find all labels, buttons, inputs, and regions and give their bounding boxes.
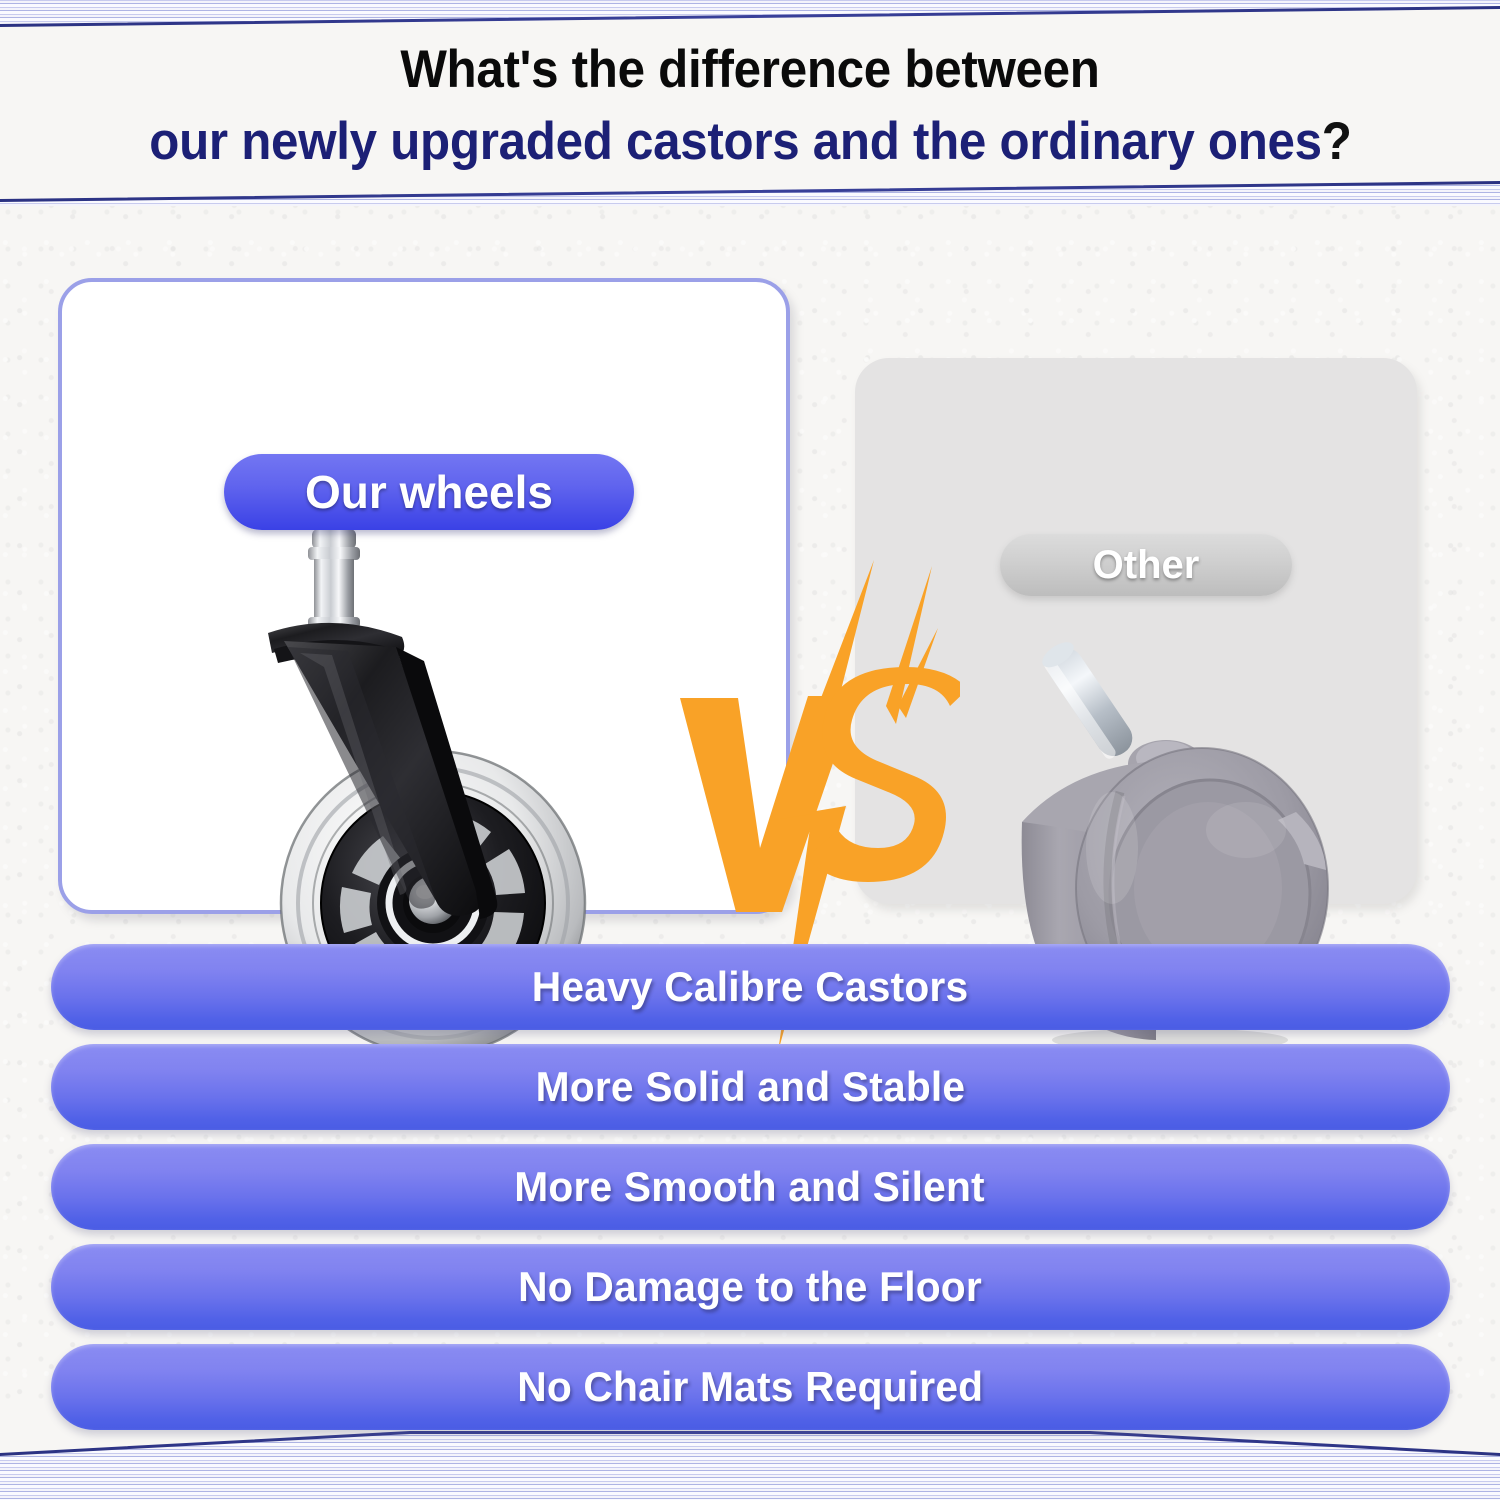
infographic-page: What's the difference between our newly … (0, 0, 1500, 1500)
feature-bar: Heavy Calibre Castors (51, 944, 1450, 1030)
our-wheels-badge-label: Our wheels (305, 465, 553, 519)
feature-label: Heavy Calibre Castors (532, 963, 969, 1011)
feature-label: No Chair Mats Required (517, 1363, 983, 1411)
page-title: What's the difference between our newly … (0, 26, 1500, 186)
comparison-section: Our wheels Other (0, 206, 1500, 936)
other-badge: Other (1000, 534, 1292, 596)
our-wheels-badge: Our wheels (224, 454, 634, 530)
feature-bar: No Damage to the Floor (51, 1244, 1450, 1330)
feature-label: More Solid and Stable (535, 1063, 965, 1111)
feature-bar: More Solid and Stable (51, 1044, 1450, 1130)
title-line-2-text: our newly upgraded castors and the ordin… (149, 112, 1322, 171)
other-badge-label: Other (1093, 543, 1200, 588)
title-line-1: What's the difference between (400, 34, 1099, 106)
feature-label: More Smooth and Silent (515, 1163, 986, 1211)
feature-bar: More Smooth and Silent (51, 1144, 1450, 1230)
title-question-mark: ? (1321, 112, 1351, 171)
title-line-2: our newly upgraded castors and the ordin… (149, 106, 1351, 178)
feature-bar: No Chair Mats Required (51, 1344, 1450, 1430)
feature-list: Heavy Calibre Castors More Solid and Sta… (0, 944, 1500, 1430)
feature-label: No Damage to the Floor (518, 1263, 982, 1311)
